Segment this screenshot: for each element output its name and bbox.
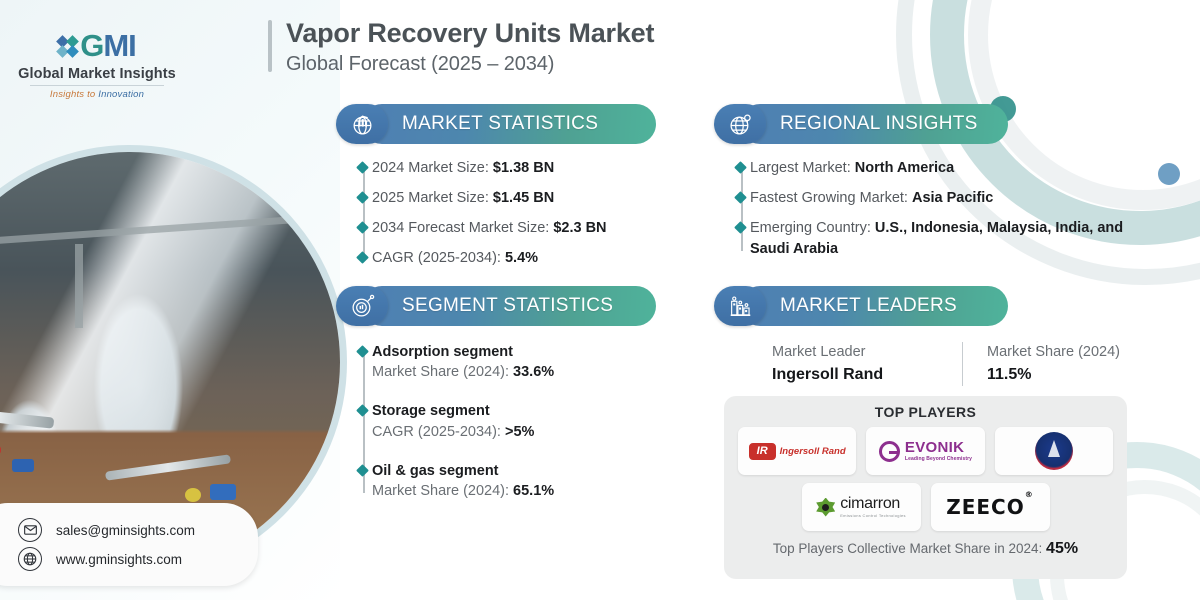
tagline-accent: Innovation [98,89,144,100]
market-leaders-label: MARKET LEADERS [780,295,957,317]
gmi-tagline: Insights to Innovation [14,89,180,100]
cimarron-flower-icon [816,498,835,517]
gmi-company-name: Global Market Insights [14,66,180,82]
market-leader-column: Market Leader Ingersoll Rand [772,342,962,386]
contact-website: www.gminsights.com [56,552,182,567]
footer-value: 45% [1046,540,1078,557]
item-value: Asia Pacific [912,190,993,206]
list-item: Storage segment CAGR (2025-2034): >5% [372,401,666,442]
list-item: Emerging Country: U.S., Indonesia, Malay… [750,218,1144,260]
globe-icon [18,547,42,571]
item-value: North America [855,160,954,176]
market-statistics-list: 2024 Market Size: $1.38 BN 2025 Market S… [336,158,666,269]
page-title: Vapor Recovery Units Market [286,16,654,51]
decor-dot-blue [1158,163,1180,185]
ingersoll-rand-mark-icon: IR [749,443,776,460]
regional-insights-list: Largest Market: North America Fastest Gr… [714,158,1144,260]
globe-chart-icon [336,104,388,144]
footer-label: Top Players Collective Market Share in 2… [773,541,1046,556]
contact-email-row[interactable]: sales@gminsights.com [18,518,244,542]
contact-panel: sales@gminsights.com www.gminsights.com [0,503,258,586]
list-item: CAGR (2025-2034): 5.4% [372,248,666,269]
regional-insights-header: REGIONAL INSIGHTS [714,104,1144,144]
item-value: >5% [505,424,534,440]
market-leaders-header: MARKET LEADERS [714,286,1144,326]
regional-insights-label: REGIONAL INSIGHTS [780,113,978,135]
item-value: $2.3 BN [553,220,606,236]
player-logo-sublabel: Leading Beyond Chemistry [905,457,972,462]
section-market-leaders: MARKET LEADERS Market Leader Ingersoll R… [714,286,1144,386]
infographic-canvas: GMI Global Market Insights Insights to I… [0,0,1200,600]
item-label: Market Share (2024): [372,483,513,499]
list-item: Fastest Growing Market: Asia Pacific [750,188,1144,209]
item-value: 5.4% [505,250,538,266]
list-item: Largest Market: North America [750,158,1144,179]
page-title-block: Vapor Recovery Units Market Global Forec… [268,16,654,78]
item-value: $1.38 BN [493,160,554,176]
page-subtitle: Global Forecast (2025 – 2034) [286,51,654,78]
player-logo-sublabel: Emissions Control Technologies [840,514,906,518]
analytics-target-icon [336,286,388,326]
tagline-prefix: Insights to [50,89,98,100]
market-statistics-label: MARKET STATISTICS [402,113,598,135]
top-players-panel: TOP PLAYERS IR Ingersoll Rand EVONIK Lea… [724,396,1127,579]
player-logo-psg[interactable] [995,427,1113,475]
player-logo-zeeco[interactable]: ZEECO® [931,483,1050,531]
gmi-logo: GMI Global Market Insights Insights to I… [14,28,180,100]
item-label: 2024 Market Size: [372,160,493,176]
item-title: Oil & gas segment [372,461,666,481]
market-statistics-header: MARKET STATISTICS [336,104,666,144]
list-item: 2034 Forecast Market Size: $2.3 BN [372,218,666,239]
factory-icon [714,286,766,326]
item-label: 2025 Market Size: [372,190,493,206]
section-market-statistics: MARKET STATISTICS 2024 Market Size: $1.3… [336,104,666,269]
top-players-title: TOP PLAYERS [738,404,1113,420]
list-item: Adsorption segment Market Share (2024): … [372,342,666,383]
player-logo-cimarron[interactable]: cimarron Emissions Control Technologies [802,483,921,531]
player-logo-label: Ingersoll Rand [780,446,846,457]
item-label: 2034 Forecast Market Size: [372,220,553,236]
player-logo-evonik[interactable]: EVONIK Leading Beyond Chemistry [866,427,984,475]
player-logo-ingersoll-rand[interactable]: IR Ingersoll Rand [738,427,856,475]
item-value: $1.45 BN [493,190,554,206]
item-title: Adsorption segment [372,342,666,362]
gmi-diamond-icon [58,37,77,56]
market-share-value: 11.5% [987,364,1152,386]
player-logo-label: EVONIK [905,440,972,455]
item-label: Fastest Growing Market: [750,190,912,206]
contact-website-row[interactable]: www.gminsights.com [18,547,244,571]
zeeco-wordmark: ZEECO® [946,495,1034,519]
market-share-column: Market Share (2024) 11.5% [962,342,1152,386]
segment-statistics-label: SEGMENT STATISTICS [402,295,613,317]
gmi-wordmark: GMI [80,28,136,64]
item-label: Market Share (2024): [372,364,513,380]
list-item: 2024 Market Size: $1.38 BN [372,158,666,179]
player-logo-label: cimarron [840,496,906,512]
player-logo-label: ZEECO [946,495,1025,519]
segment-statistics-list: Adsorption segment Market Share (2024): … [336,342,666,502]
segment-statistics-header: SEGMENT STATISTICS [336,286,666,326]
envelope-icon [18,518,42,542]
evonik-e-icon [879,441,900,462]
item-label: CAGR (2025-2034): [372,250,505,266]
globe-pin-icon [714,104,766,144]
logo-divider [30,85,164,86]
market-leader-label: Market Leader [772,342,962,364]
psg-crest-icon [1035,432,1073,470]
item-label: Emerging Country: [750,220,875,236]
item-title: Storage segment [372,401,666,421]
item-label: CAGR (2025-2034): [372,424,505,440]
contact-email: sales@gminsights.com [56,523,195,538]
list-item: 2025 Market Size: $1.45 BN [372,188,666,209]
section-regional-insights: REGIONAL INSIGHTS Largest Market: North … [714,104,1144,260]
top-players-footer: Top Players Collective Market Share in 2… [738,540,1113,558]
market-leader-value: Ingersoll Rand [772,364,962,386]
item-label: Largest Market: [750,160,855,176]
market-leader-summary: Market Leader Ingersoll Rand Market Shar… [714,342,1144,386]
section-segment-statistics: SEGMENT STATISTICS Adsorption segment Ma… [336,286,666,502]
market-share-label: Market Share (2024) [987,342,1152,364]
list-item: Oil & gas segment Market Share (2024): 6… [372,461,666,502]
item-value: 65.1% [513,483,554,499]
item-value: 33.6% [513,364,554,380]
